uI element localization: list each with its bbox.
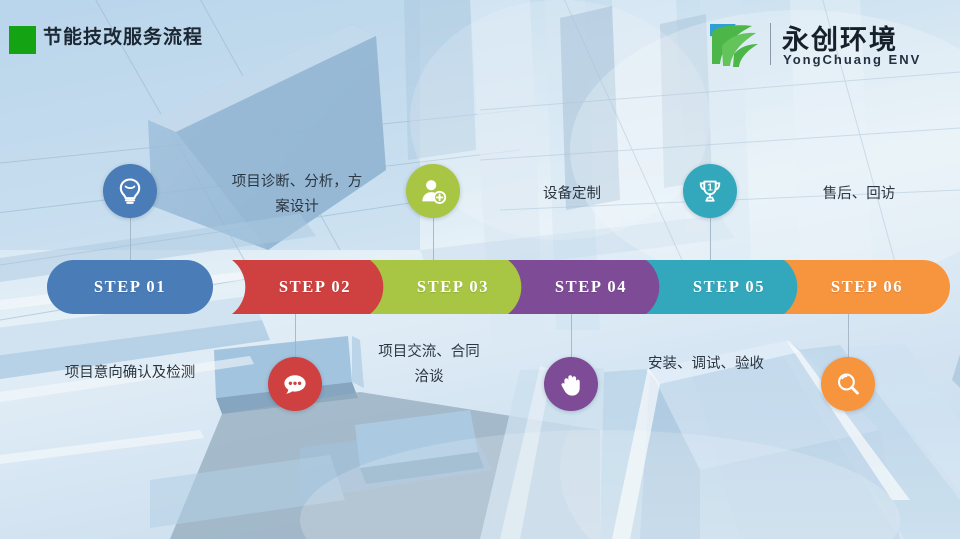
logo-mark-icon [706,20,760,68]
step-caption-4: 设备定制 [496,182,648,207]
company-logo: 永创环境 YongChuang ENV [706,18,916,74]
connector-line-step06 [848,312,849,360]
hand-icon[interactable] [544,357,598,411]
trophy-icon[interactable]: 1 [683,164,737,218]
step-chip-1[interactable]: STEP 01 [47,260,213,314]
connector-line-step01 [130,218,131,262]
search-icon[interactable] [821,357,875,411]
connector-line-step04 [571,312,572,360]
step-chip-2-label: STEP 02 [279,277,351,297]
step-caption-5: 安装、调试、验收 [602,352,810,377]
step-chip-6-label: STEP 06 [831,277,903,297]
step-chip-3-label: STEP 03 [417,277,489,297]
lightbulb-icon[interactable] [103,164,157,218]
step-chip-6[interactable]: STEP 06 [784,260,950,314]
connector-line-step05 [710,218,711,262]
page-title: 节能技改服务流程 [43,22,203,49]
logo-divider [770,23,771,65]
step-chip-5-label: STEP 05 [693,277,765,297]
step-caption-1: 项目意向确认及检测 [22,361,238,386]
connector-line-step02 [295,312,296,360]
step-caption-2: 项目诊断、分析，方 案设计 [202,170,392,220]
logo-name-en: YongChuang ENV [783,52,921,67]
chat-bubble-icon[interactable] [268,357,322,411]
step-chip-4-label: STEP 04 [555,277,627,297]
step-chip-1-label: STEP 01 [94,277,166,297]
slide-canvas: 节能技改服务流程 永创环境 YongChuang ENV STEP 01 [0,0,960,539]
step-caption-3: 项目交流、合同 洽谈 [345,340,513,390]
connector-line-step03 [433,218,434,262]
svg-text:1: 1 [707,182,713,193]
step-caption-6: 售后、回访 [778,182,940,207]
add-user-icon[interactable] [406,164,460,218]
title-accent-square [9,26,36,54]
